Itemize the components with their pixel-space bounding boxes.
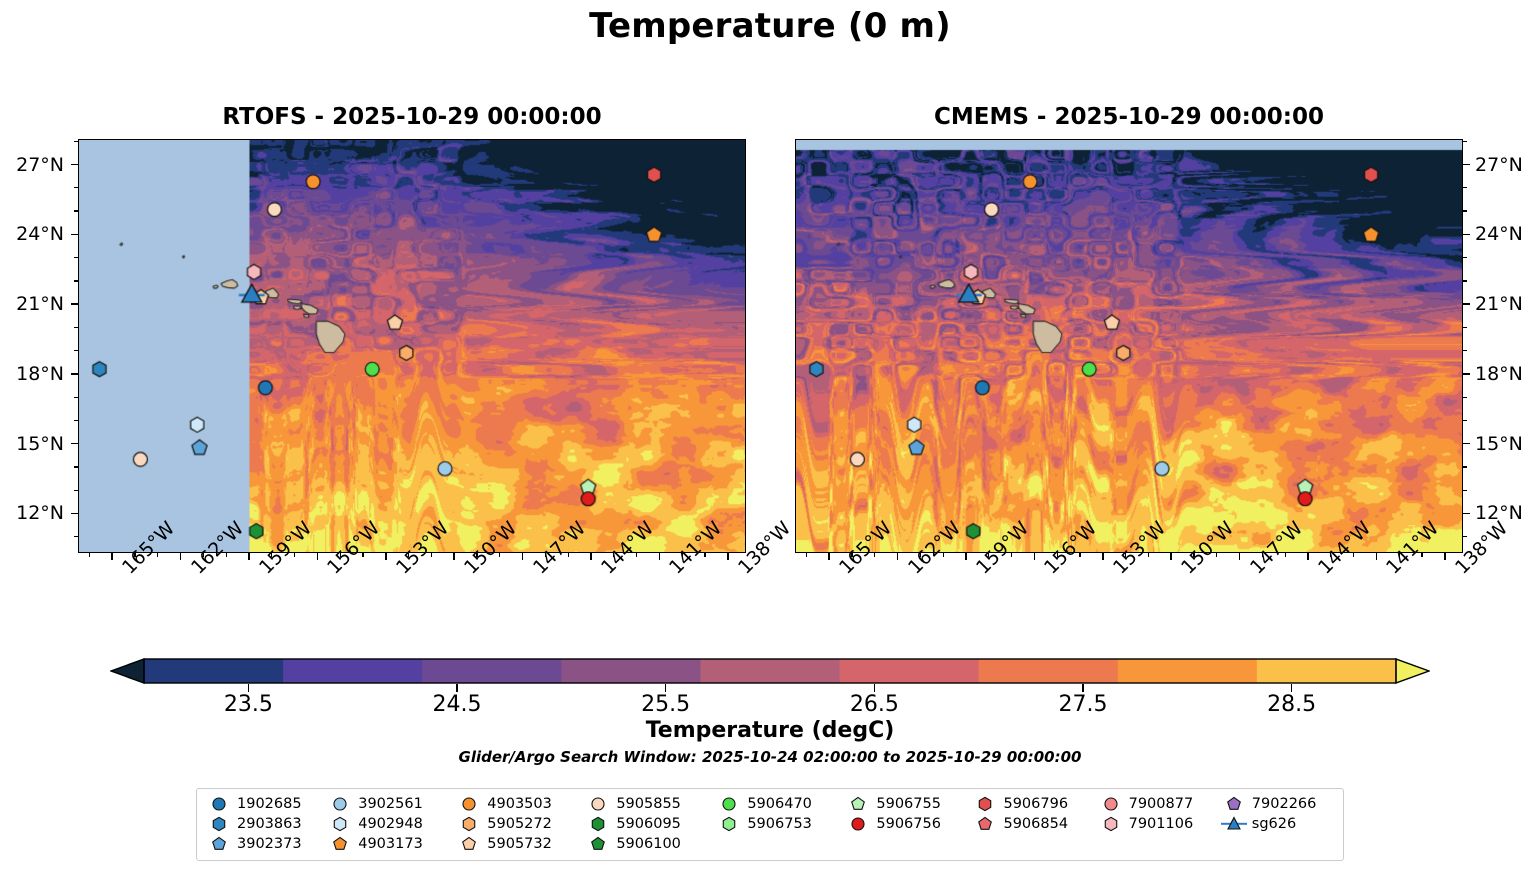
x-axis-tick — [1102, 553, 1104, 560]
y-axis-minor-tick — [1463, 397, 1467, 398]
legend-item[interactable]: 5905732 — [455, 834, 584, 854]
y-axis-minor-tick — [1463, 141, 1467, 142]
x-axis-minor-tick — [1125, 553, 1126, 557]
legend-item[interactable]: 4902948 — [326, 814, 455, 834]
colorbar-band — [561, 659, 701, 683]
legend-marker-glider-icon — [1220, 815, 1248, 833]
legend-marker-pentagon-icon — [326, 835, 354, 853]
x-axis-tick — [453, 553, 455, 560]
x-axis-minor-tick — [874, 553, 875, 557]
legend-item[interactable]: 5906854 — [971, 814, 1096, 834]
x-axis-minor-tick — [1148, 553, 1149, 557]
x-axis-tick-label: 165°W — [118, 563, 134, 579]
y-axis-minor-tick — [1463, 257, 1467, 258]
x-axis-minor-tick — [682, 553, 683, 557]
x-axis-tick — [1034, 553, 1036, 560]
x-axis-tick-label: 144°W — [597, 563, 613, 579]
legend-marker-pentagon-icon — [844, 795, 872, 813]
y-axis-tick — [71, 164, 78, 166]
x-axis-tick-label: 141°W — [665, 563, 681, 579]
x-axis-minor-tick — [408, 553, 409, 557]
legend-marker-hexagon-icon — [971, 795, 999, 813]
y-axis-minor-tick — [1463, 490, 1467, 491]
y-axis-minor-tick — [1463, 536, 1467, 537]
legend-marker-pentagon-icon — [584, 835, 612, 853]
x-axis-minor-tick — [1216, 553, 1217, 557]
x-axis-tick-label: 138°W — [734, 563, 750, 579]
y-axis-tick-label: 27°N — [0, 154, 64, 176]
x-axis-tick-label: 144°W — [1314, 563, 1330, 579]
panel-title-cmems: CMEMS - 2025-10-29 00:00:00 — [795, 104, 1463, 130]
x-axis-minor-tick — [134, 553, 135, 557]
legend-marker-circle-icon — [715, 795, 743, 813]
colorbar — [110, 658, 1430, 684]
y-axis-minor-tick — [74, 257, 78, 258]
x-axis-tick — [1376, 553, 1378, 560]
legend-item-label: sg626 — [1248, 817, 1296, 832]
x-axis-tick — [1239, 553, 1241, 560]
y-axis-minor-tick — [1463, 350, 1467, 351]
legend-marker-circle-icon — [205, 795, 233, 813]
legend-column: 590585559060955906100 — [584, 794, 715, 854]
x-axis-tick — [248, 553, 250, 560]
figure-root: Temperature (0 m) RTOFS - 2025-10-29 00:… — [0, 0, 1540, 889]
legend-item-label: 7900877 — [1125, 797, 1194, 812]
legend-item[interactable]: 4903173 — [326, 834, 455, 854]
map-panel-cmems[interactable] — [795, 139, 1463, 553]
y-axis-tick-label: 15°N — [1475, 433, 1540, 455]
legend-item[interactable]: 7900877 — [1097, 794, 1220, 814]
x-axis-tick-label: 150°W — [460, 563, 476, 579]
x-axis-minor-tick — [499, 553, 500, 557]
y-axis-tick-label: 18°N — [1475, 363, 1540, 385]
x-axis-minor-tick — [340, 553, 341, 557]
y-axis-tick-label: 12°N — [0, 502, 64, 524]
x-axis-tick-label: 159°W — [972, 563, 988, 579]
legend-item-label: 3902561 — [354, 797, 423, 812]
x-axis-minor-tick — [294, 553, 295, 557]
y-axis-tick-label: 12°N — [1475, 502, 1540, 524]
legend-item[interactable]: 5906755 — [844, 794, 971, 814]
legend-item-label: 1902685 — [233, 797, 302, 812]
x-axis-tick-label: 153°W — [392, 563, 408, 579]
x-axis-minor-tick — [1285, 553, 1286, 557]
legend-column: 7902266sg626 — [1220, 794, 1343, 834]
x-axis-minor-tick — [1193, 553, 1194, 557]
y-axis-minor-tick — [74, 280, 78, 281]
colorbar-tick-label: 28.5 — [1267, 692, 1316, 717]
x-axis-minor-tick — [806, 553, 807, 557]
x-axis-tick — [111, 553, 113, 560]
colorbar-tick — [456, 684, 457, 692]
legend-box[interactable]: 1902685290386339023733902561490294849031… — [196, 788, 1344, 861]
colorbar-band — [979, 659, 1119, 683]
colorbar-band — [283, 659, 423, 683]
x-axis-minor-tick — [545, 553, 546, 557]
y-axis-minor-tick — [74, 420, 78, 421]
colorbar-band — [1257, 659, 1397, 683]
legend-item[interactable]: sg626 — [1220, 814, 1343, 834]
y-axis-tick-label: 21°N — [1475, 293, 1540, 315]
y-axis-tick-label: 18°N — [0, 363, 64, 385]
colorbar-tick-label: 23.5 — [224, 692, 273, 717]
y-axis-tick — [1463, 164, 1470, 166]
x-axis-minor-tick — [943, 553, 944, 557]
x-axis-tick-label: 153°W — [1109, 563, 1125, 579]
legend-item[interactable]: 1902685 — [205, 794, 326, 814]
legend-item[interactable]: 2903863 — [205, 814, 326, 834]
y-axis-tick — [71, 443, 78, 445]
y-axis-minor-tick — [74, 327, 78, 328]
x-axis-minor-tick — [920, 553, 921, 557]
x-axis-minor-tick — [1421, 553, 1422, 557]
y-axis-tick — [1463, 443, 1470, 445]
x-axis-tick-label: 156°W — [1040, 563, 1056, 579]
colorbar-label: Temperature (degC) — [0, 718, 1540, 743]
x-axis-tick — [1444, 553, 1446, 560]
x-axis-minor-tick — [1399, 553, 1400, 557]
x-axis-tick-label: 159°W — [255, 563, 271, 579]
colorbar-tick — [1082, 684, 1083, 692]
legend-item[interactable]: 5905272 — [455, 814, 584, 834]
legend-column: 59067965906854 — [971, 794, 1096, 834]
colorbar-band — [422, 659, 562, 683]
legend-item-label: 4903503 — [483, 797, 552, 812]
legend-item[interactable]: 3902373 — [205, 834, 326, 854]
x-axis-tick — [590, 553, 592, 560]
x-axis-minor-tick — [613, 553, 614, 557]
legend-item-label: 5906756 — [872, 817, 941, 832]
y-axis-minor-tick — [74, 141, 78, 142]
legend-item[interactable]: 5906753 — [715, 814, 844, 834]
x-axis-minor-tick — [1353, 553, 1354, 557]
x-axis-tick-label: 162°W — [187, 563, 203, 579]
y-axis-minor-tick — [74, 187, 78, 188]
legend-marker-hexagon-icon — [205, 815, 233, 833]
x-axis-minor-tick — [476, 553, 477, 557]
legend-item-label: 3902373 — [233, 837, 302, 852]
temperature-field-cmems — [796, 140, 1462, 552]
legend-column: 390256149029484903173 — [326, 794, 455, 854]
x-axis-tick-label: 141°W — [1382, 563, 1398, 579]
x-axis-minor-tick — [568, 553, 569, 557]
colorbar-band — [840, 659, 980, 683]
legend-item-label: 5906470 — [743, 797, 812, 812]
legend-marker-circle-icon — [584, 795, 612, 813]
x-axis-tick — [1307, 553, 1309, 560]
y-axis-minor-tick — [1463, 280, 1467, 281]
legend-marker-hexagon-icon — [326, 815, 354, 833]
y-axis-minor-tick — [1463, 187, 1467, 188]
x-axis-minor-tick — [636, 553, 637, 557]
legend-item-label: 5906095 — [612, 817, 681, 832]
legend-item[interactable]: 5906100 — [584, 834, 715, 854]
x-axis-tick-label: 162°W — [904, 563, 920, 579]
x-axis-tick-label: 165°W — [835, 563, 851, 579]
legend-marker-pentagon-icon — [455, 835, 483, 853]
x-axis-minor-tick — [704, 553, 705, 557]
x-axis-tick — [522, 553, 524, 560]
y-axis-tick — [71, 303, 78, 305]
legend-column: 59067555906756 — [844, 794, 971, 834]
colorbar-tick-label: 24.5 — [433, 692, 482, 717]
colorbar-tick — [1291, 684, 1292, 692]
legend-item-label: 7901106 — [1125, 817, 1194, 832]
legend-marker-hexagon-icon — [584, 815, 612, 833]
legend-item-label: 4902948 — [354, 817, 423, 832]
y-axis-tick — [1463, 373, 1470, 375]
legend-marker-circle-icon — [1097, 795, 1125, 813]
x-axis-minor-tick — [1079, 553, 1080, 557]
legend-item-label: 5906753 — [743, 817, 812, 832]
colorbar-tick — [874, 684, 875, 692]
map-panel-rtofs[interactable] — [78, 139, 746, 553]
legend-marker-hexagon-icon — [715, 815, 743, 833]
legend-item-label: 5905855 — [612, 797, 681, 812]
legend-item-label: 7902266 — [1248, 797, 1317, 812]
legend-column: 490350359052725905732 — [455, 794, 584, 854]
colorbar-tick-label: 25.5 — [641, 692, 690, 717]
legend-item[interactable]: 5906756 — [844, 814, 971, 834]
y-axis-tick — [1463, 513, 1470, 515]
y-axis-minor-tick — [74, 397, 78, 398]
legend-item[interactable]: 7902266 — [1220, 794, 1343, 814]
legend-item[interactable]: 5905855 — [584, 794, 715, 814]
legend-marker-circle-icon — [455, 795, 483, 813]
legend-item-label: 4903173 — [354, 837, 423, 852]
legend-column: 190268529038633902373 — [205, 794, 326, 854]
y-axis-tick — [71, 373, 78, 375]
x-axis-minor-tick — [988, 553, 989, 557]
x-axis-minor-tick — [851, 553, 852, 557]
x-axis-minor-tick — [1057, 553, 1058, 557]
x-axis-minor-tick — [203, 553, 204, 557]
y-axis-tick-label: 24°N — [1475, 223, 1540, 245]
y-axis-minor-tick — [74, 536, 78, 537]
x-axis-tick — [659, 553, 661, 560]
panel-title-rtofs: RTOFS - 2025-10-29 00:00:00 — [78, 104, 746, 130]
y-axis-tick — [71, 234, 78, 236]
temperature-field-rtofs — [79, 140, 745, 552]
legend-marker-hexagon-icon — [1097, 815, 1125, 833]
y-axis-minor-tick — [1463, 466, 1467, 467]
colorbar-tick — [248, 684, 249, 692]
y-axis-tick-label: 24°N — [0, 223, 64, 245]
search-window-caption: Glider/Argo Search Window: 2025-10-24 02… — [0, 748, 1540, 766]
x-axis-minor-tick — [1011, 553, 1012, 557]
x-axis-minor-tick — [431, 553, 432, 557]
legend-item[interactable]: 5906470 — [715, 794, 844, 814]
colorbar-band — [700, 659, 840, 683]
x-axis-minor-tick — [1262, 553, 1263, 557]
x-axis-tick — [180, 553, 182, 560]
legend-item-label: 5905272 — [483, 817, 552, 832]
legend-marker-hexagon-icon — [455, 815, 483, 833]
x-axis-tick-label: 156°W — [323, 563, 339, 579]
x-axis-tick — [727, 553, 729, 560]
legend-column: 59064705906753 — [715, 794, 844, 834]
x-axis-tick-label: 138°W — [1451, 563, 1467, 579]
legend-marker-circle-icon — [326, 795, 354, 813]
legend-item-label: 5906100 — [612, 837, 681, 852]
colorbar-tick-label: 27.5 — [1059, 692, 1108, 717]
x-axis-tick — [828, 553, 830, 560]
x-axis-minor-tick — [1330, 553, 1331, 557]
x-axis-minor-tick — [89, 553, 90, 557]
y-axis-tick-label: 27°N — [1475, 154, 1540, 176]
colorbar-max-extend — [1396, 659, 1429, 683]
legend-item-label: 2903863 — [233, 817, 302, 832]
legend-item[interactable]: 5906796 — [971, 794, 1096, 814]
y-axis-tick — [1463, 234, 1470, 236]
y-axis-tick — [71, 513, 78, 515]
x-axis-minor-tick — [271, 553, 272, 557]
y-axis-minor-tick — [74, 210, 78, 211]
y-axis-minor-tick — [1463, 420, 1467, 421]
colorbar-band — [144, 659, 284, 683]
y-axis-minor-tick — [74, 490, 78, 491]
y-axis-minor-tick — [74, 466, 78, 467]
x-axis-tick — [965, 553, 967, 560]
y-axis-tick-label: 21°N — [0, 293, 64, 315]
legend-marker-pentagon-icon — [1220, 795, 1248, 813]
legend-marker-circle-icon — [844, 815, 872, 833]
x-axis-tick — [897, 553, 899, 560]
x-axis-minor-tick — [226, 553, 227, 557]
legend-item[interactable]: 3902561 — [326, 794, 455, 814]
y-axis-minor-tick — [1463, 210, 1467, 211]
legend-marker-pentagon-icon — [205, 835, 233, 853]
y-axis-tick — [1463, 303, 1470, 305]
x-axis-tick-label: 147°W — [529, 563, 545, 579]
legend-item[interactable]: 4903503 — [455, 794, 584, 814]
x-axis-tick — [385, 553, 387, 560]
y-axis-tick-label: 15°N — [0, 433, 64, 455]
x-axis-tick — [1170, 553, 1172, 560]
page-title: Temperature (0 m) — [0, 6, 1540, 46]
x-axis-tick — [317, 553, 319, 560]
legend-item-label: 5906755 — [872, 797, 941, 812]
colorbar-tick — [665, 684, 666, 692]
legend-marker-pentagon-icon — [971, 815, 999, 833]
x-axis-minor-tick — [362, 553, 363, 557]
colorbar-band — [1118, 659, 1258, 683]
legend-item[interactable]: 5906095 — [584, 814, 715, 834]
y-axis-minor-tick — [74, 350, 78, 351]
x-axis-tick-label: 147°W — [1246, 563, 1262, 579]
legend-column: 79008777901106 — [1097, 794, 1220, 834]
colorbar-min-extend — [111, 659, 144, 683]
x-axis-minor-tick — [157, 553, 158, 557]
y-axis-minor-tick — [1463, 327, 1467, 328]
legend-item-label: 5905732 — [483, 837, 552, 852]
legend-item[interactable]: 7901106 — [1097, 814, 1220, 834]
x-axis-tick-label: 150°W — [1177, 563, 1193, 579]
colorbar-tick-label: 26.5 — [850, 692, 899, 717]
legend-item-label: 5906796 — [999, 797, 1068, 812]
legend-item-label: 5906854 — [999, 817, 1068, 832]
